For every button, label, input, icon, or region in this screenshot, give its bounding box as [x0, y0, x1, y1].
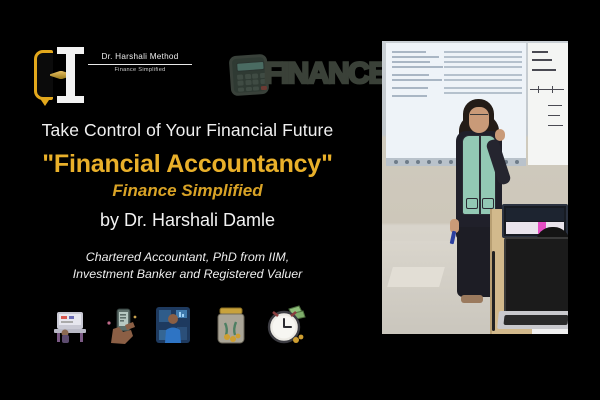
finance-badge: FINANCE: [228, 48, 348, 100]
clock-with-money-icon: [263, 303, 309, 347]
foreground-laptop: [504, 237, 568, 315]
speaker-photo: [382, 41, 568, 334]
brand-row: Dr. Harshali Method Finance Simplified F…: [0, 46, 375, 108]
logo-tagline: Finance Simplified: [90, 67, 190, 73]
page-title: "Financial Accountancy": [0, 150, 375, 179]
foreground-laptop-keyboard: [497, 311, 568, 329]
page-subtitle: Finance Simplified: [0, 181, 375, 201]
person-at-desk-icon: [48, 303, 94, 347]
finance-badge-word: FINANCE: [264, 52, 387, 96]
dh-monogram-icon: [30, 47, 86, 103]
finance-icon-strip: [48, 303, 323, 347]
logo-text-block: Dr. Harshali Method Finance Simplified: [90, 52, 190, 73]
logo-name: Dr. Harshali Method: [90, 52, 190, 61]
savings-jar-icon: [208, 303, 254, 347]
left-content-column: Dr. Harshali Method Finance Simplified F…: [0, 0, 375, 400]
whiteboard: [528, 43, 568, 165]
author-byline: by Dr. Harshali Damle: [0, 210, 375, 231]
author-credentials: Chartered Accountant, PhD from IIM, Inve…: [0, 249, 375, 282]
logo-divider: [88, 64, 192, 65]
credentials-line-1: Chartered Accountant, PhD from IIM,: [0, 249, 375, 266]
headline: Take Control of Your Financial Future: [0, 120, 375, 141]
harshali-method-logo: Dr. Harshali Method Finance Simplified: [30, 46, 190, 104]
person-with-charts-icon: [150, 303, 196, 347]
credentials-line-2: Investment Banker and Registered Valuer: [0, 266, 375, 283]
presentation-slide: Dr. Harshali Method Finance Simplified F…: [0, 0, 600, 400]
hand-holding-phone-icon: [99, 303, 145, 347]
